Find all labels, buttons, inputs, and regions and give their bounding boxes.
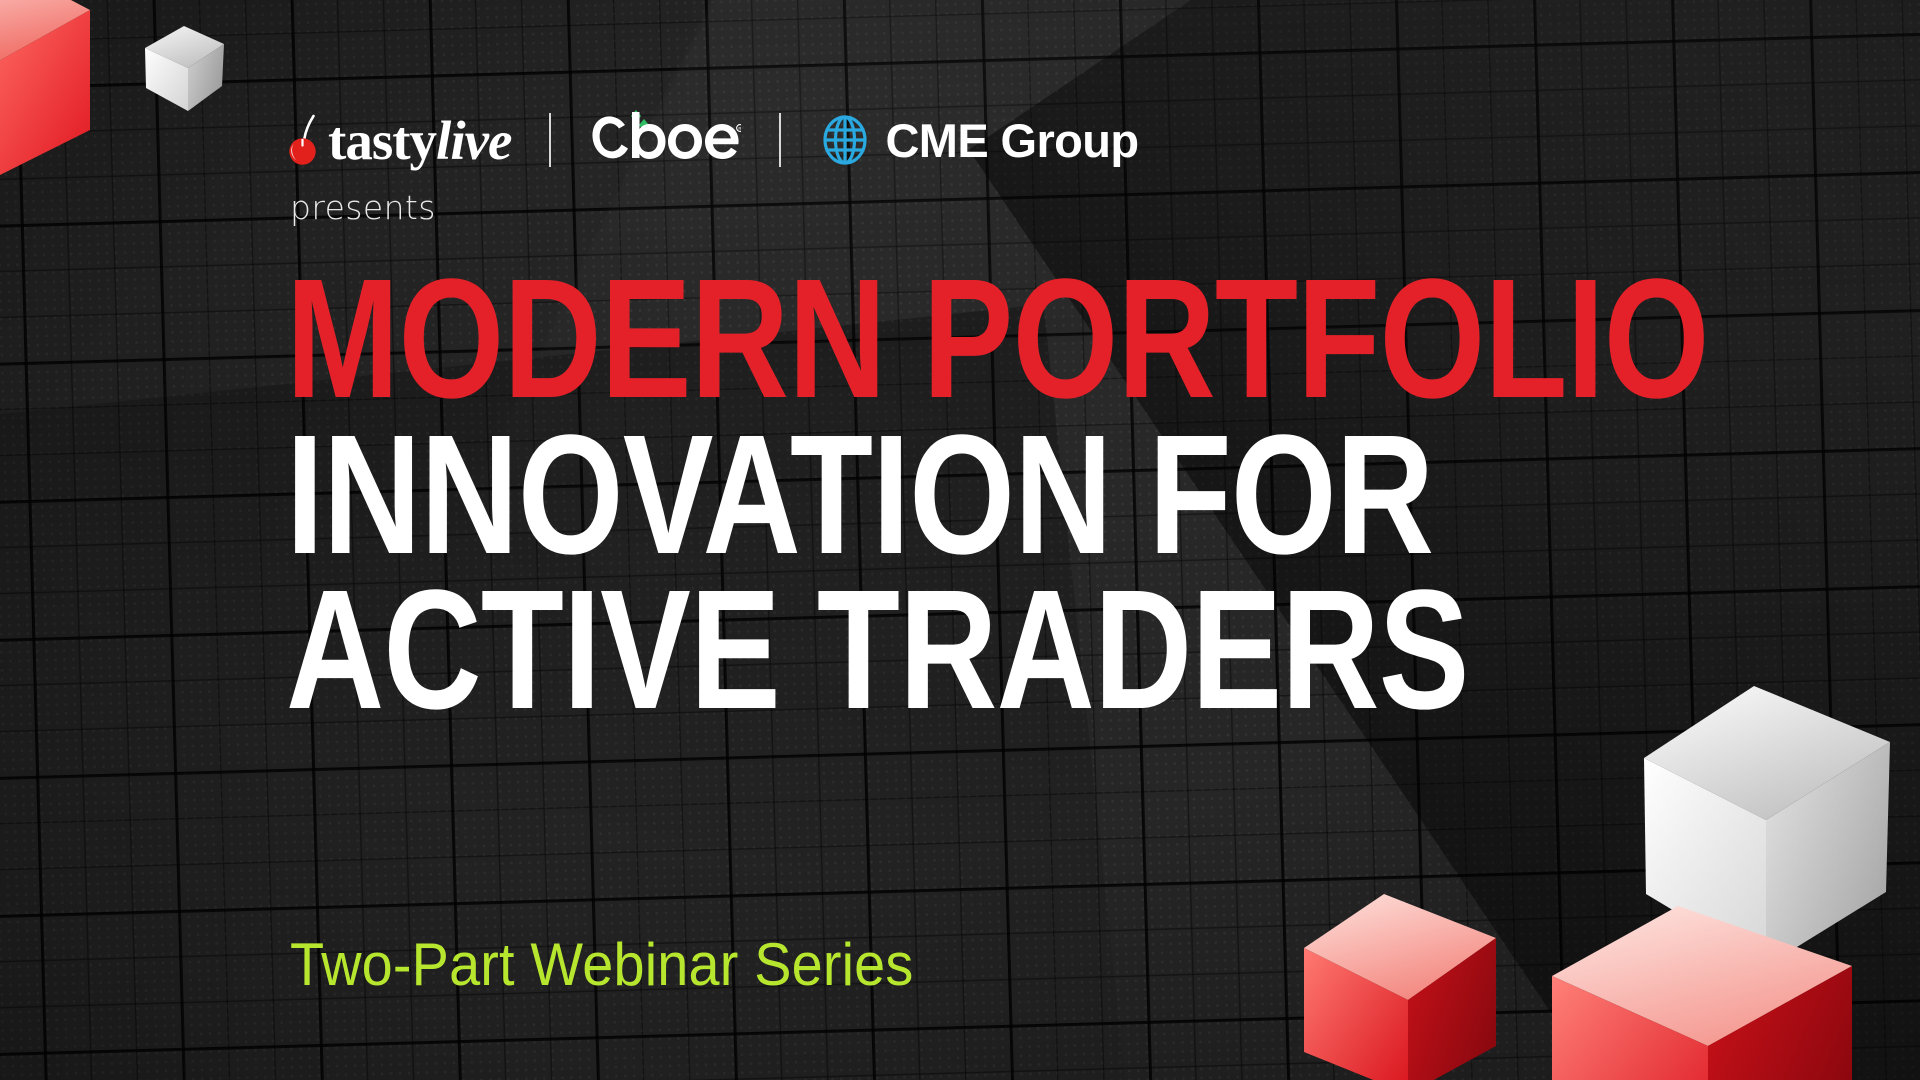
headline-block: MODERN PORTFOLIO INNOVATION FOR ACTIVE T… <box>286 262 1706 729</box>
globe-icon <box>819 114 871 166</box>
cme-group-logo[interactable]: CME Group <box>819 108 1138 172</box>
headline-line-1: MODERN PORTFOLIO <box>286 262 1422 418</box>
headline-line-2: INNOVATION FOR <box>286 418 1422 574</box>
tastylive-wordmark: tastylive <box>328 113 511 168</box>
headline-line-3: ACTIVE TRADERS <box>286 573 1422 729</box>
cherry-icon <box>288 114 326 166</box>
cme-group-wordmark: CME Group <box>885 117 1138 164</box>
svg-text:R: R <box>739 126 742 131</box>
cboe-logo[interactable]: R <box>589 108 741 172</box>
banner-canvas: tastylive <box>0 0 1920 1080</box>
tastylive-logo[interactable]: tastylive <box>288 108 511 172</box>
webinar-series-subtitle: Two-Part Webinar Series <box>290 930 913 999</box>
logo-divider-2 <box>779 113 781 167</box>
presents-label: presents <box>290 188 436 227</box>
cboe-wordmark-icon: R <box>589 108 741 166</box>
partner-logo-row: tastylive <box>288 108 1139 172</box>
logo-divider-1 <box>549 113 551 167</box>
